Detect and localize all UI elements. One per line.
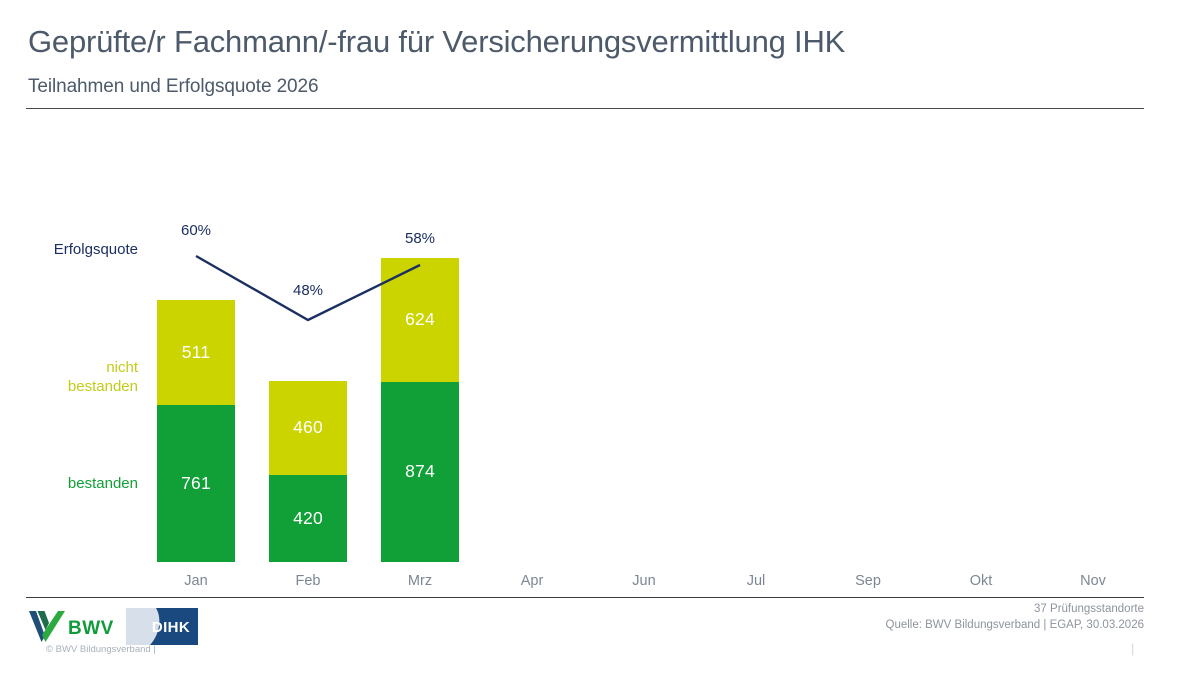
x-tick-okt: Okt <box>936 573 1026 589</box>
bwv-copyright-note: © BWV Bildungsverband | <box>46 644 156 655</box>
bar-segment-bestanden[interactable]: 761 <box>157 405 235 562</box>
x-tick-jun: Jun <box>599 573 689 589</box>
bar-group-jan[interactable]: 511761 <box>157 300 235 562</box>
bwv-logo[interactable]: BWV <box>28 609 124 645</box>
legend-label-nicht-bestanden: nicht bestanden <box>18 358 138 396</box>
bar-value-bestanden: 420 <box>269 510 347 528</box>
erfolgsquote-label-feb: 48% <box>268 282 348 299</box>
legend-label-bestanden: bestanden <box>18 474 138 493</box>
bwv-v-mark-icon <box>28 609 66 643</box>
pruefungsstandorte-count: 37 Prüfungsstandorte <box>886 601 1145 617</box>
bar-value-nicht-bestanden: 460 <box>269 419 347 437</box>
bar-value-nicht-bestanden: 511 <box>157 344 235 362</box>
x-tick-jan: Jan <box>151 573 241 589</box>
bar-group-feb[interactable]: 460420 <box>269 381 347 562</box>
bar-segment-nicht-bestanden[interactable]: 460 <box>269 381 347 475</box>
page-marker: | <box>1131 641 1134 656</box>
bar-value-nicht-bestanden: 624 <box>381 311 459 329</box>
svg-text:DIHK: DIHK <box>152 619 190 636</box>
page-footer: BWV © BWV Bildungsverband | DIHK 37 Prüf… <box>0 598 1200 675</box>
legend-label-erfolgsquote: Erfolgsquote <box>18 240 138 259</box>
x-tick-sep: Sep <box>823 573 913 589</box>
x-tick-nov: Nov <box>1048 573 1138 589</box>
bar-value-bestanden: 761 <box>157 475 235 493</box>
x-tick-jul: Jul <box>711 573 801 589</box>
dihk-logo[interactable]: DIHK <box>126 608 198 645</box>
x-tick-mrz: Mrz <box>375 573 465 589</box>
bar-segment-bestanden[interactable]: 874 <box>381 382 459 562</box>
x-tick-feb: Feb <box>263 573 353 589</box>
bar-value-bestanden: 874 <box>381 463 459 481</box>
bar-group-mrz[interactable]: 624874 <box>381 258 459 562</box>
bwv-logo-text: BWV <box>68 618 114 640</box>
erfolgsquote-label-jan: 60% <box>156 222 236 239</box>
bar-segment-nicht-bestanden[interactable]: 511 <box>157 300 235 405</box>
footer-source-block: 37 Prüfungsstandorte Quelle: BWV Bildung… <box>886 601 1145 633</box>
x-tick-apr: Apr <box>487 573 577 589</box>
source-line: Quelle: BWV Bildungsverband | EGAP, 30.0… <box>886 617 1145 633</box>
erfolgsquote-label-mrz: 58% <box>380 230 460 247</box>
chart-plot-area: Erfolgsquote nicht bestanden bestanden 5… <box>0 0 1200 675</box>
bar-segment-nicht-bestanden[interactable]: 624 <box>381 258 459 382</box>
bar-segment-bestanden[interactable]: 420 <box>269 475 347 562</box>
